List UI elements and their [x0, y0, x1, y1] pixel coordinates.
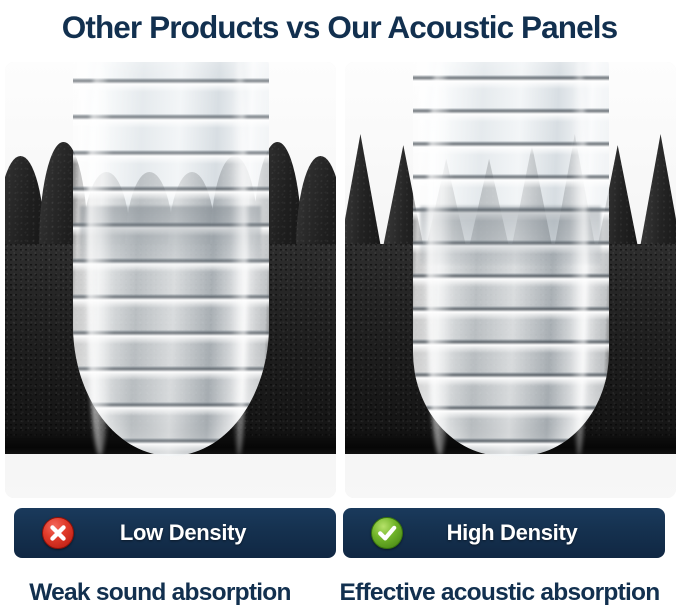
- water-bottle-right: [413, 62, 609, 456]
- badge-row: Low Density High Density: [0, 508, 679, 558]
- check-icon: [371, 517, 403, 549]
- badge-label-high-density: High Density: [403, 520, 665, 546]
- bottle-highlight-right: [231, 62, 247, 456]
- badge-label-low-density: Low Density: [74, 520, 336, 546]
- caption-row: Weak sound absorption Effective acoustic…: [0, 576, 679, 614]
- comparison-photo-left: [5, 62, 336, 498]
- status-badge-low-density: Low Density: [14, 508, 336, 558]
- comparison-panels: [0, 62, 679, 498]
- caption-left: Weak sound absorption: [0, 576, 320, 614]
- caption-right: Effective acoustic absorption: [320, 576, 679, 614]
- bottle-highlight-left: [427, 62, 453, 456]
- photo-scene-left: [5, 62, 336, 498]
- bottle-highlight-left: [87, 62, 113, 456]
- page-title: Other Products vs Our Acoustic Panels: [0, 0, 679, 60]
- cross-icon: [42, 517, 74, 549]
- water-bottle-left: [73, 62, 269, 456]
- status-badge-high-density: High Density: [343, 508, 665, 558]
- bottle-highlight-right: [571, 62, 587, 456]
- comparison-photo-right: [345, 62, 676, 498]
- photo-scene-right: [345, 62, 676, 498]
